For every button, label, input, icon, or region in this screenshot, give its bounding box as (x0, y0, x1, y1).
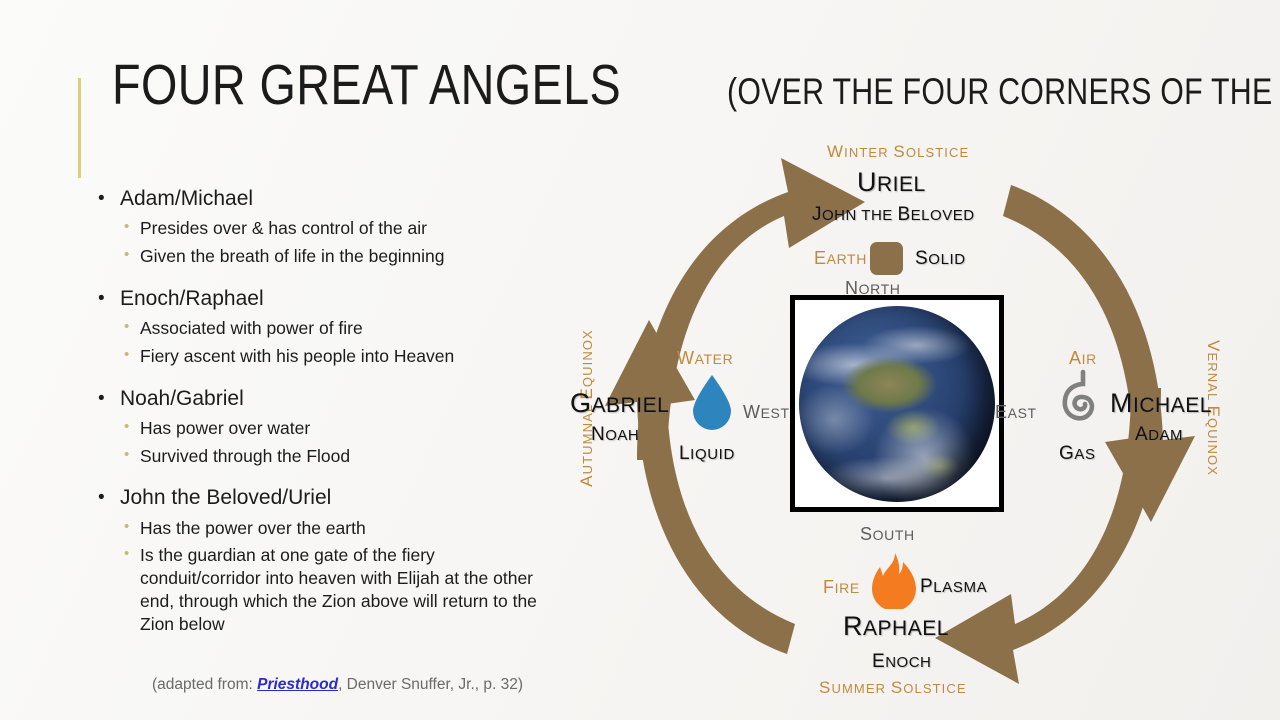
citation-prefix: (adapted from: (152, 676, 257, 693)
bullet-sub-item: •Given the breath of life in the beginni… (92, 245, 542, 268)
arrow-south-to-west (605, 320, 795, 654)
bullet-sub-item: •Associated with power of fire (92, 317, 542, 340)
south-angel-label: RAPHAEL (843, 611, 949, 642)
sub-bullet-dot-icon: • (124, 517, 129, 537)
air-spiral-icon (1057, 368, 1109, 430)
bullet-sub-item: •Has the power over the earth (92, 517, 542, 540)
water-drop-icon (690, 373, 734, 431)
four-angels-cycle-diagram: WINTER SOLSTICE URIEL JOHN THE BELOVED E… (545, 130, 1255, 710)
south-state-label: PLASMA (920, 576, 987, 598)
bullet-sub-label: Given the breath of life in the beginnin… (140, 246, 445, 266)
sub-bullet-dot-icon: • (124, 417, 129, 437)
south-element-label: FIRE (823, 577, 860, 598)
bullet-sub-label: Has power over water (140, 418, 310, 438)
bullet-sub-item: •Has power over water (92, 417, 542, 440)
bullet-heading: •John the Beloved/Uriel (92, 485, 542, 511)
bullet-sub-label: Has the power over the earth (140, 518, 366, 538)
bullet-sub-label: Fiery ascent with his people into Heaven (140, 346, 454, 366)
bullet-group: •John the Beloved/Uriel •Has the power o… (92, 485, 542, 635)
earth-image-frame (790, 295, 1004, 512)
bullet-group: •Noah/Gabriel •Has power over water •Sur… (92, 386, 542, 468)
south-season-label: SUMMER SOLSTICE (819, 678, 967, 698)
slide-canvas: FOUR GREAT ANGELS(OVER THE FOUR CORNERS … (0, 0, 1280, 720)
west-angel-label: GABRIEL (570, 388, 669, 419)
bullet-sub-label: Is the guardian at one gate of the fiery… (140, 545, 537, 633)
bullet-dot-icon: • (98, 387, 105, 411)
south-person-label: ENOCH (872, 651, 931, 673)
earth-square-icon (870, 242, 903, 275)
bullet-group: •Adam/Michael •Presides over & has contr… (92, 186, 542, 268)
bullet-heading-label: Noah/Gabriel (120, 387, 244, 410)
bullet-sub-item: •Survived through the Flood (92, 445, 542, 468)
east-state-label: GAS (1059, 443, 1096, 465)
east-person-label: ADAM (1135, 424, 1183, 446)
bullet-sub-label: Associated with power of fire (140, 318, 363, 338)
bullet-list: •Adam/Michael •Presides over & has contr… (92, 186, 542, 653)
bullet-sub-item: •Is the guardian at one gate of the fier… (92, 544, 542, 635)
sub-bullet-dot-icon: • (124, 317, 129, 337)
bullet-heading: •Enoch/Raphael (92, 286, 542, 312)
bullet-sub-label: Presides over & has control of the air (140, 218, 427, 238)
sub-bullet-dot-icon: • (124, 544, 129, 564)
sub-bullet-dot-icon: • (124, 217, 129, 237)
east-angel-label: MICHAEL (1110, 388, 1212, 419)
bullet-sub-item: •Presides over & has control of the air (92, 217, 542, 240)
citation-suffix: , Denver Snuffer, Jr., p. 32) (338, 676, 523, 693)
west-direction-label: WEST (743, 402, 790, 423)
bullet-sub-label: Survived through the Flood (140, 446, 350, 466)
west-state-label: LIQUID (679, 443, 735, 465)
bullet-dot-icon: • (98, 187, 105, 211)
title-subtitle-text: (OVER THE FOUR CORNERS OF THE EARTH) (727, 71, 1280, 113)
bullet-heading: •Noah/Gabriel (92, 386, 542, 412)
bullet-heading-label: Adam/Michael (120, 187, 253, 210)
arrow-north-to-east (1003, 185, 1195, 522)
citation-source-link[interactable]: Priesthood (257, 676, 338, 693)
north-state-label: SOLID (915, 248, 966, 270)
north-angel-label: URIEL (857, 167, 926, 198)
north-season-label: WINTER SOLSTICE (827, 142, 969, 162)
page-title: FOUR GREAT ANGELS(OVER THE FOUR CORNERS … (112, 52, 1202, 118)
bullet-dot-icon: • (98, 486, 105, 510)
north-person-label: JOHN THE BELOVED (812, 204, 975, 226)
sub-bullet-dot-icon: • (124, 445, 129, 465)
earth-globe-image (799, 306, 995, 502)
fire-flame-icon (872, 553, 916, 609)
title-accent-bar (78, 78, 81, 178)
bullet-group: •Enoch/Raphael •Associated with power of… (92, 286, 542, 368)
bullet-sub-item: •Fiery ascent with his people into Heave… (92, 345, 542, 368)
east-element-label: AIR (1069, 348, 1097, 369)
bullet-dot-icon: • (98, 287, 105, 311)
sub-bullet-dot-icon: • (124, 245, 129, 265)
south-direction-label: SOUTH (860, 524, 915, 545)
bullet-heading-label: John the Beloved/Uriel (120, 486, 331, 509)
east-direction-label: EAST (995, 402, 1037, 423)
north-element-label: EARTH (814, 248, 867, 269)
citation: (adapted from: Priesthood, Denver Snuffe… (152, 676, 523, 694)
bullet-heading: •Adam/Michael (92, 186, 542, 212)
west-element-label: WATER (677, 348, 733, 369)
bullet-heading-label: Enoch/Raphael (120, 287, 264, 310)
sub-bullet-dot-icon: • (124, 345, 129, 365)
title-main-text: FOUR GREAT ANGELS (112, 52, 621, 118)
west-person-label: NOAH (591, 424, 639, 446)
